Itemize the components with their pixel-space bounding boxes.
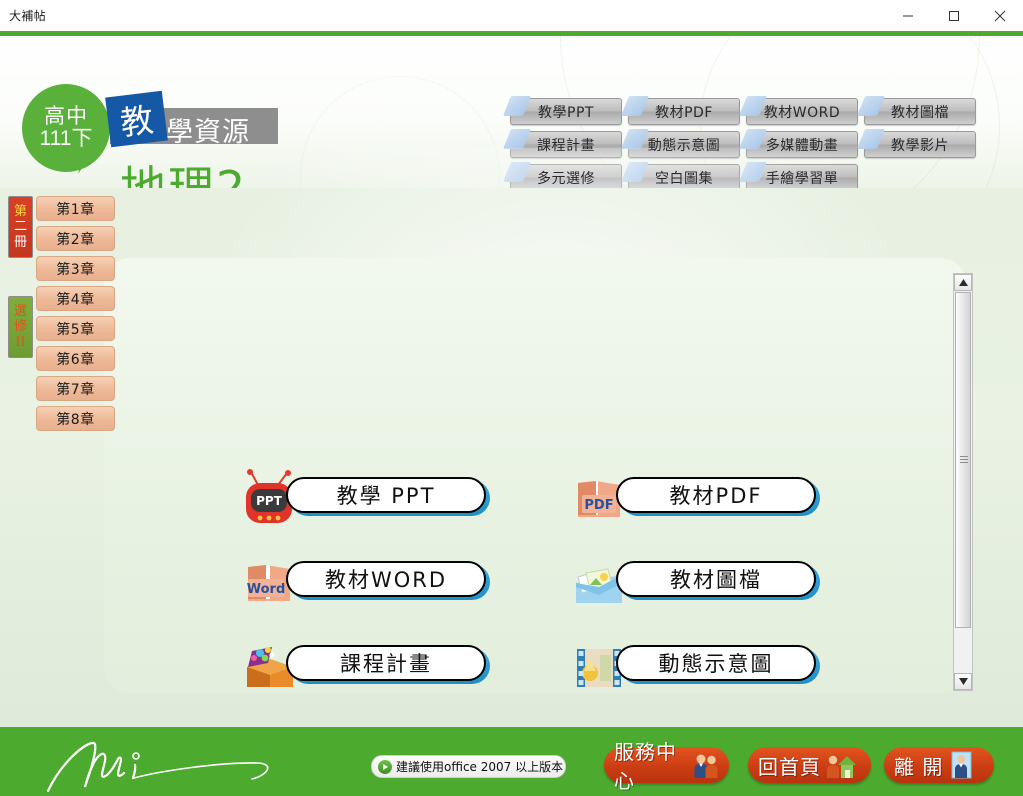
home-button[interactable]: 回首頁 <box>748 747 871 783</box>
quick-nav-label: 多媒體動畫 <box>766 135 839 155</box>
menu-item-course-plan[interactable]: 課程計畫 <box>238 639 568 699</box>
menu-button-pill-wrap: 動態示意圖 <box>616 645 816 685</box>
grade-bubble: 高中 111下 <box>22 84 110 172</box>
menu-item-animated-diagram[interactable]: 動態示意圖 <box>568 639 838 699</box>
menu-item-material-pdf[interactable]: PDF教材PDF <box>568 471 838 531</box>
scrollbar-thumb[interactable] <box>955 292 971 628</box>
scrollbar-grip-icon <box>960 456 968 464</box>
volume-char: 冊 <box>14 235 27 250</box>
service-center-button[interactable]: 服務中心 <box>604 747 729 783</box>
sidebar-item-chapter-7[interactable]: 第7章 <box>36 376 115 401</box>
quick-nav-label: 多元選修 <box>537 168 595 188</box>
quick-nav-button-1[interactable]: 教學PPT <box>510 98 622 125</box>
window-controls <box>885 0 1023 31</box>
svg-text:PPT: PPT <box>256 494 283 508</box>
volume-char: II <box>15 335 25 350</box>
grade-term: 111下 <box>40 128 93 150</box>
quick-nav-label: 教學PPT <box>538 102 594 122</box>
volume-char: 第 <box>14 204 27 219</box>
service-center-label: 服務中心 <box>614 736 688 794</box>
sidebar-item-chapter-4[interactable]: 第4章 <box>36 286 115 311</box>
home-label: 回首頁 <box>758 751 821 780</box>
quick-nav-label: 動態示意圖 <box>648 135 721 155</box>
volume-char: 二 <box>14 219 27 234</box>
svg-text:PDF: PDF <box>584 498 613 513</box>
menu-item-teaching-ppt[interactable]: PPT教學 PPT <box>238 471 568 531</box>
menu-button-pill-wrap: 教材圖檔 <box>616 561 816 601</box>
sidebar-item-chapter-2[interactable]: 第2章 <box>36 226 115 251</box>
menu-item-material-word[interactable]: Word教材WORD <box>238 555 568 615</box>
quick-nav-label: 教材WORD <box>764 102 840 122</box>
nani-logo <box>30 735 330 796</box>
scroll-up-arrow-icon[interactable] <box>954 274 972 291</box>
office-notice-text: 建議使用office 2007 以上版本 <box>396 758 563 775</box>
exit-door-icon <box>948 751 974 779</box>
quick-nav-label: 教材圖檔 <box>891 102 949 122</box>
title-bar: 大補帖 <box>0 0 1023 31</box>
menu-button-label[interactable]: 教材圖檔 <box>616 561 816 597</box>
application-window: 大補帖 高中 111下 學資源 教 地理2 <box>0 0 1023 796</box>
quick-nav-label: 手繪學習單 <box>766 168 839 188</box>
volume-tab-elective-2[interactable]: 選 修 II <box>8 296 33 358</box>
volume-tab-2[interactable]: 第 二 冊 <box>8 196 33 258</box>
sidebar-item-chapter-8[interactable]: 第8章 <box>36 406 115 431</box>
sidebar-item-chapter-5[interactable]: 第5章 <box>36 316 115 341</box>
office-version-notice: 建議使用office 2007 以上版本 <box>371 755 566 778</box>
menu-button-label[interactable]: 動態示意圖 <box>616 645 816 681</box>
volume-char: 選 <box>14 304 27 319</box>
quick-nav-label: 空白圖集 <box>655 168 713 188</box>
quick-nav-button-4[interactable]: 教材圖檔 <box>864 98 976 125</box>
exit-label: 離 開 <box>894 751 943 780</box>
minimize-button[interactable] <box>885 0 931 31</box>
menu-button-label[interactable]: 課程計畫 <box>286 645 486 681</box>
exit-button[interactable]: 離 開 <box>884 747 994 783</box>
quick-nav-label: 課程計畫 <box>537 135 595 155</box>
svg-text:Word: Word <box>247 582 286 597</box>
close-button[interactable] <box>977 0 1023 31</box>
content-area: 第 二 冊 選 修 II 第1章第2章第3章第4章第5章第6章第7章第8章 PP… <box>0 188 1023 727</box>
menu-item-material-images[interactable]: 教材圖檔 <box>568 555 838 615</box>
volume-char: 修 <box>14 319 27 334</box>
quick-nav-label: 教材PDF <box>655 102 713 122</box>
window-title: 大補帖 <box>9 7 46 24</box>
play-icon <box>378 760 392 774</box>
quick-nav-button-2[interactable]: 教材PDF <box>628 98 740 125</box>
maximize-button[interactable] <box>931 0 977 31</box>
menu-button-pill-wrap: 課程計畫 <box>286 645 486 685</box>
menu-button-label[interactable]: 教材PDF <box>616 477 816 513</box>
menu-button-label[interactable]: 教材WORD <box>286 561 486 597</box>
sidebar-item-chapter-1[interactable]: 第1章 <box>36 196 115 221</box>
menu-button-pill-wrap: 教材PDF <box>616 477 816 517</box>
quick-nav-label: 教學影片 <box>891 135 949 155</box>
menu-button-pill-wrap: 教學 PPT <box>286 477 486 517</box>
quick-nav-button-3[interactable]: 教材WORD <box>746 98 858 125</box>
home-house-icon <box>826 751 852 779</box>
sidebar-item-chapter-3[interactable]: 第3章 <box>36 256 115 281</box>
grade-level: 高中 <box>44 106 88 128</box>
sidebar-item-chapter-6[interactable]: 第6章 <box>36 346 115 371</box>
resource-band-label: 學資源 <box>166 110 250 149</box>
vertical-scrollbar[interactable] <box>953 273 973 691</box>
teach-badge: 教 <box>105 91 168 148</box>
menu-button-pill-wrap: 教材WORD <box>286 561 486 601</box>
menu-button-label[interactable]: 教學 PPT <box>286 477 486 513</box>
teach-badge-label: 教 <box>117 93 156 145</box>
scroll-down-arrow-icon[interactable] <box>954 673 972 690</box>
service-people-icon <box>693 751 719 779</box>
